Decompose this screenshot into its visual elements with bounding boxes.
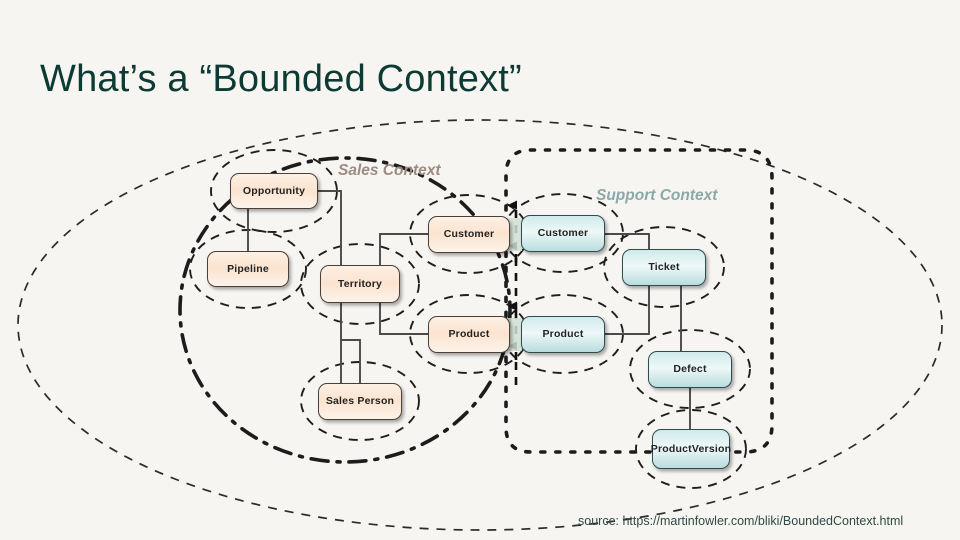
entity-label-line: Version — [692, 443, 731, 455]
entity-label-line: Pipeline — [227, 263, 269, 275]
entity-product-version[interactable]: ProductVersion — [652, 429, 730, 469]
entity-territory[interactable]: Territory — [320, 265, 400, 303]
entity-label-line: Sales Person — [326, 395, 394, 407]
entity-label-line: Customer — [444, 228, 495, 240]
entity-customer-support[interactable]: Customer — [521, 215, 605, 252]
entity-pipeline[interactable]: Pipeline — [207, 251, 289, 287]
entity-defect[interactable]: Defect — [648, 351, 732, 388]
source-credit: source: https://martinfowler.com/bliki/B… — [578, 514, 903, 528]
slide-canvas: What’s a “Bounded Context” — [0, 0, 960, 540]
entity-customer-sales[interactable]: Customer — [428, 216, 510, 253]
entity-label-line: Opportunity — [243, 185, 305, 197]
entity-sales-person[interactable]: Sales Person — [318, 383, 402, 420]
entity-label-line: Ticket — [648, 261, 679, 273]
entity-opportunity[interactable]: Opportunity — [230, 173, 318, 209]
entity-label-line: Product — [448, 328, 489, 340]
sales-context-label: Sales Context — [338, 162, 441, 180]
entity-product-support[interactable]: Product — [521, 316, 605, 353]
entity-label-line: Product — [651, 443, 692, 455]
entity-product-sales[interactable]: Product — [428, 316, 510, 353]
entity-label-line: Customer — [538, 227, 589, 239]
entity-label-line: Defect — [673, 363, 706, 375]
entity-ticket[interactable]: Ticket — [622, 249, 706, 286]
entity-label-line: Product — [542, 328, 583, 340]
bounded-context-diagram — [0, 0, 960, 540]
entity-label-line: Territory — [338, 278, 382, 290]
support-context-label: Support Context — [596, 187, 717, 205]
rel-product-ticket — [605, 286, 649, 334]
